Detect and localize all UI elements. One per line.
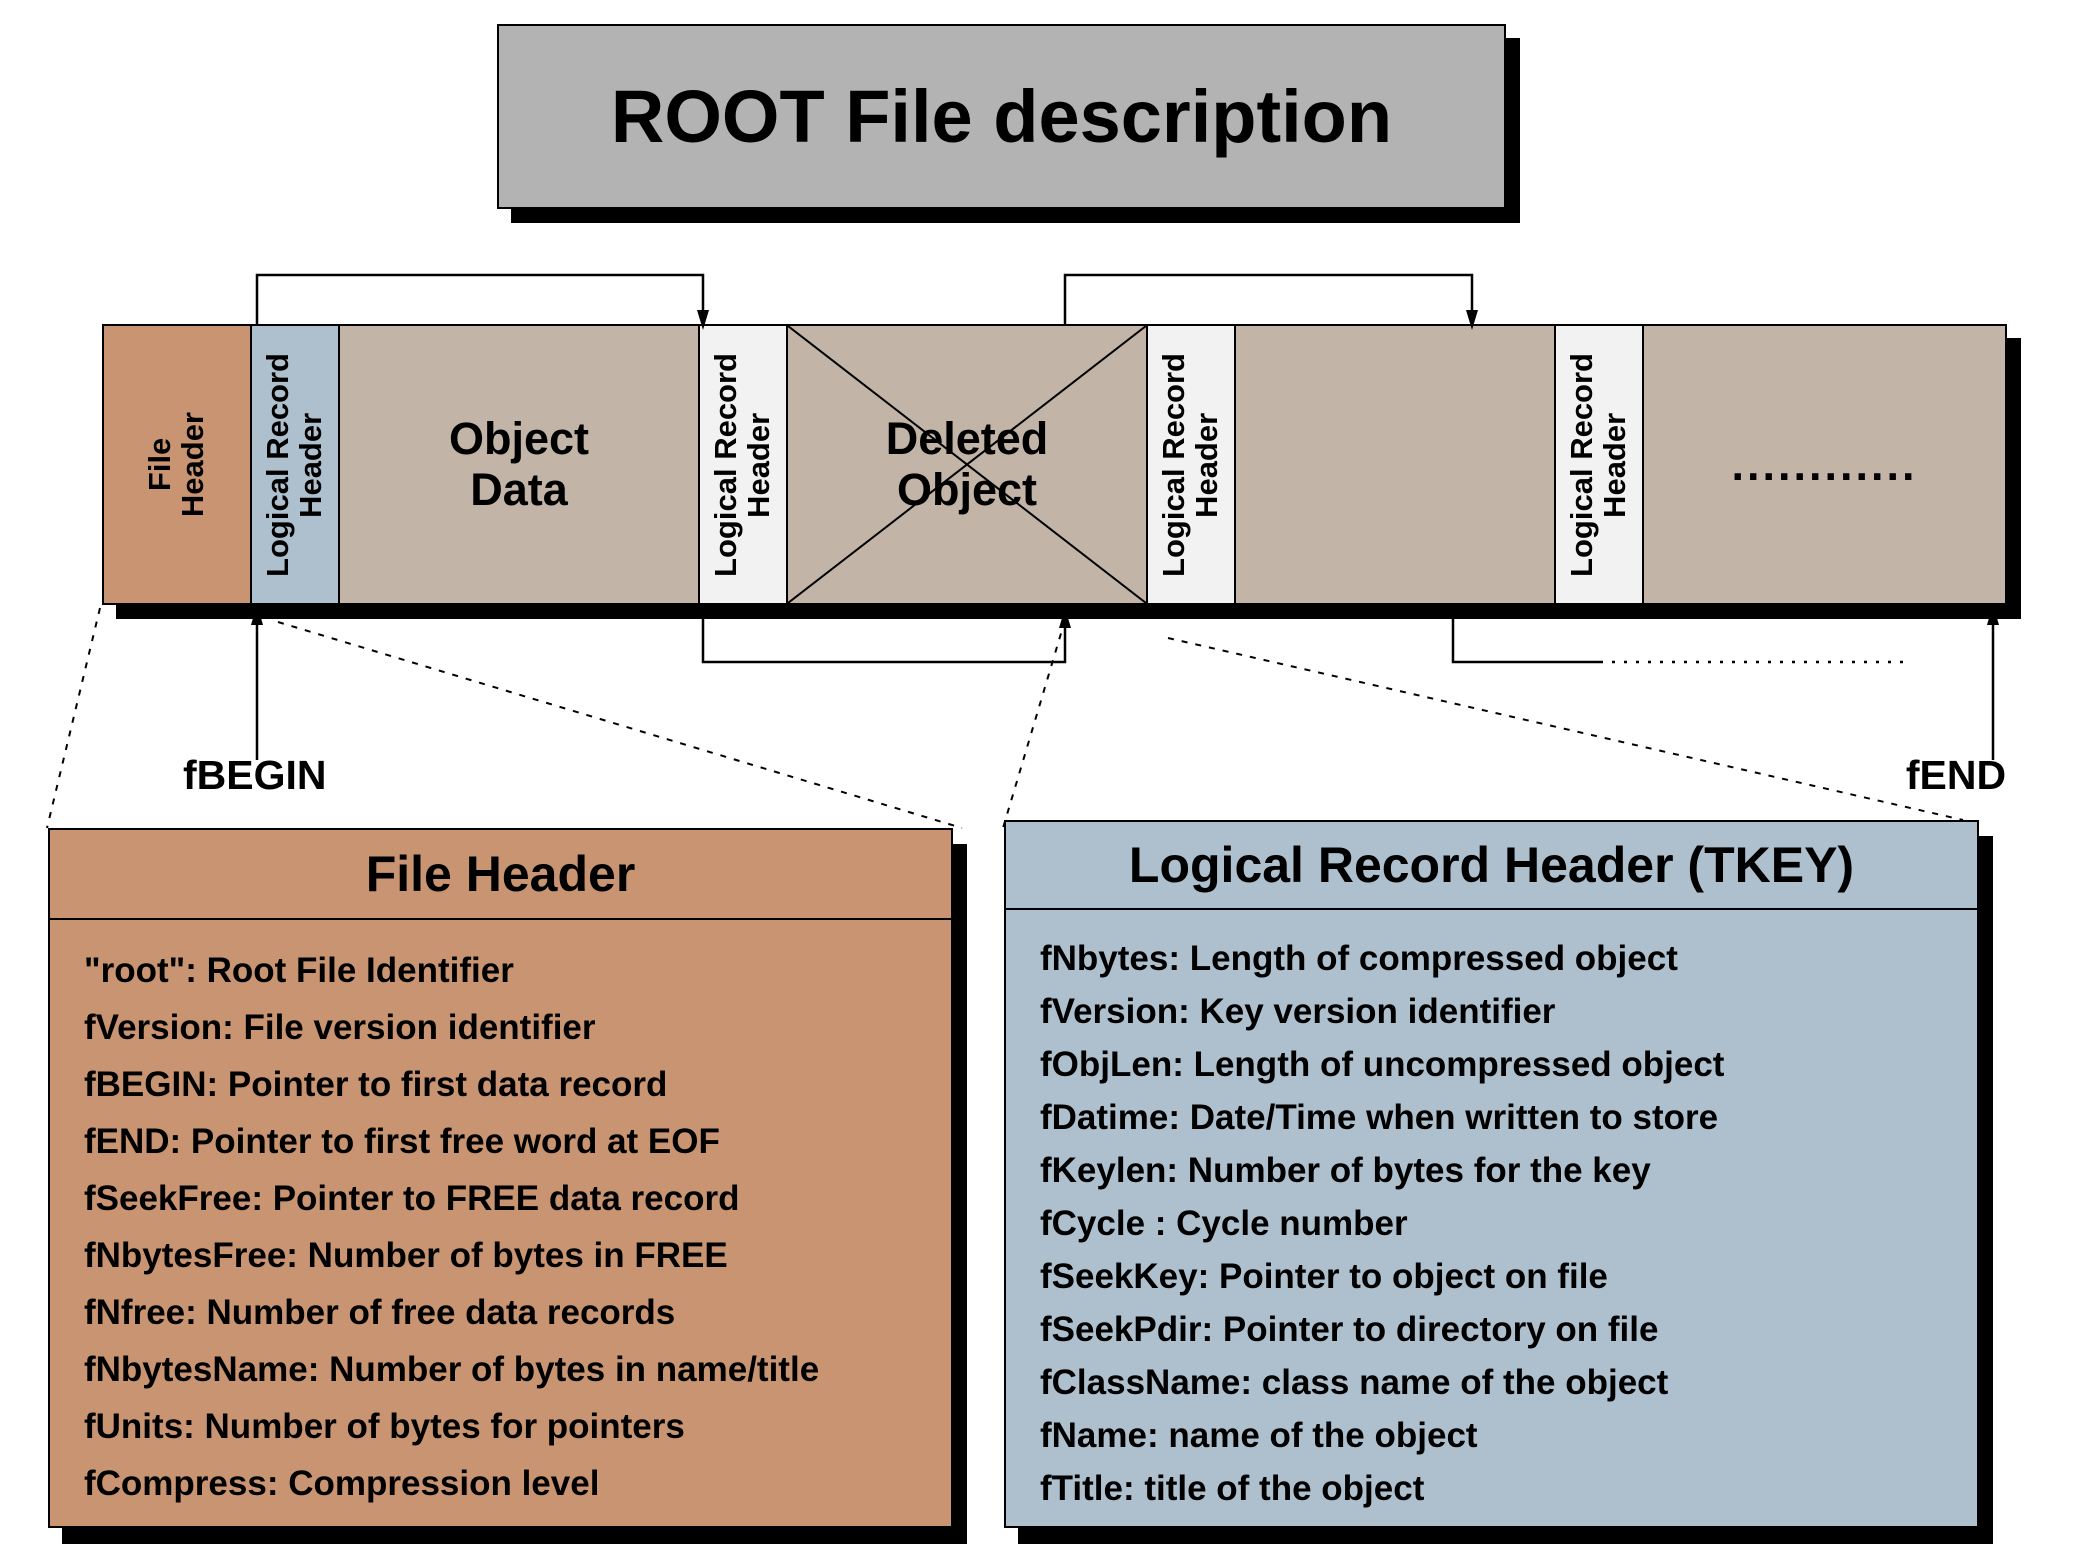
page-title: ROOT File description [611, 74, 1392, 159]
list-item: fCycle : Cycle number [1040, 1197, 1949, 1250]
list-item: fSeekPdir: Pointer to directory on file [1040, 1303, 1949, 1356]
bar-segment-deleted-object-label: Deleted Object [886, 414, 1049, 515]
record-span-bracket-2 [1065, 275, 1478, 330]
list-item: fNbytes: Length of compressed object [1040, 932, 1949, 985]
bar-segment-logical-record-header-3-label: Logical Record Header [1158, 353, 1224, 577]
bar-segment-file-header-label: File Header [144, 412, 210, 517]
bar-segment-logical-record-header-3[interactable]: Logical Record Header [1148, 326, 1236, 603]
callout-tkey [1003, 620, 1963, 828]
list-item: fVersion: Key version identifier [1040, 985, 1949, 1038]
bar-segment-logical-record-header-4-label: Logical Record Header [1566, 353, 1632, 577]
list-item: fNfree: Number of free data records [84, 1284, 923, 1341]
bar-segment-ellipsis-label: ............ [1731, 439, 1917, 491]
bar-segment-logical-record-header-1[interactable]: Logical Record Header [252, 326, 340, 603]
fbegin-arrow [251, 604, 263, 760]
root-file-layout-bar: File Header Logical Record Header Object… [102, 324, 2007, 605]
file-header-item-list: "root": Root File Identifier fVersion: F… [50, 920, 951, 1512]
bar-segment-object-data[interactable]: Object Data [340, 326, 700, 603]
list-item: fNbytesName: Number of bytes in name/tit… [84, 1341, 923, 1398]
list-item: fVersion: File version identifier [84, 999, 923, 1056]
list-item: fEND: Pointer to first free word at EOF [84, 1113, 923, 1170]
bar-segment-object-data-label: Object Data [449, 414, 589, 515]
bar-segment-logical-record-header-2[interactable]: Logical Record Header [700, 326, 788, 603]
list-item: fClassName: class name of the object [1040, 1356, 1949, 1409]
list-item: fNbytesFree: Number of bytes in FREE [84, 1227, 923, 1284]
list-item: fSeekFree: Pointer to FREE data record [84, 1170, 923, 1227]
bar-segment-logical-record-header-1-label: Logical Record Header [262, 353, 328, 577]
tkey-box-title: Logical Record Header (TKEY) [1006, 822, 1977, 910]
title-box: ROOT File description [497, 24, 1506, 209]
fend-arrow [1987, 604, 1999, 760]
list-item: fCompress: Compression level [84, 1455, 923, 1512]
record-span-bracket-1 [257, 275, 709, 330]
list-item: fSeekKey: Pointer to object on file [1040, 1250, 1949, 1303]
bar-segment-deleted-object[interactable]: Deleted Object [788, 326, 1148, 603]
tkey-item-list: fNbytes: Length of compressed object fVe… [1006, 910, 1977, 1515]
list-item: "root": Root File Identifier [84, 942, 923, 999]
tkey-detail-box[interactable]: Logical Record Header (TKEY) fNbytes: Le… [1004, 820, 1979, 1528]
bar-segment-logical-record-header-2-label: Logical Record Header [710, 353, 776, 577]
list-item: fUnits: Number of bytes for pointers [84, 1398, 923, 1455]
bar-segment-free-space[interactable] [1236, 326, 1556, 603]
bar-segment-logical-record-header-4[interactable]: Logical Record Header [1556, 326, 1644, 603]
bar-segment-ellipsis-region[interactable]: ............ [1644, 326, 2005, 603]
list-item: fObjLen: Length of uncompressed object [1040, 1038, 1949, 1091]
list-item: fName: name of the object [1040, 1409, 1949, 1462]
list-item: fDatime: Date/Time when written to store [1040, 1091, 1949, 1144]
list-item: fKeylen: Number of bytes for the key [1040, 1144, 1949, 1197]
list-item: fBEGIN: Pointer to first data record [84, 1056, 923, 1113]
fbegin-label: fBEGIN [183, 752, 327, 799]
bar-segment-file-header[interactable]: File Header [104, 326, 252, 603]
list-item: fTitle: title of the object [1040, 1462, 1949, 1515]
file-header-detail-box[interactable]: File Header "root": Root File Identifier… [48, 828, 953, 1528]
fend-label: fEND [1906, 752, 2006, 799]
file-header-box-title: File Header [50, 830, 951, 920]
